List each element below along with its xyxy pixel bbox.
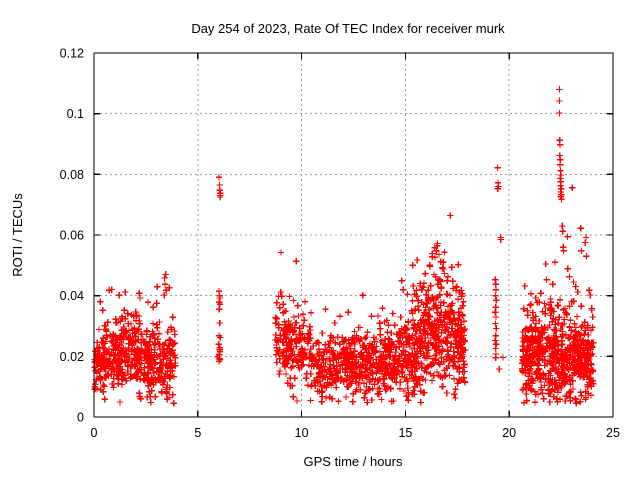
chart-svg: Day 254 of 2023, Rate Of TEC Index for r… <box>0 0 640 480</box>
y-tick-label: 0.1 <box>67 107 84 121</box>
x-tick-label: 10 <box>295 426 309 440</box>
y-tick-label: 0.06 <box>60 229 84 243</box>
y-tick-label: 0.08 <box>60 168 84 182</box>
chart-title: Day 254 of 2023, Rate Of TEC Index for r… <box>191 21 505 36</box>
x-tick-label: 15 <box>398 426 412 440</box>
y-tick-label: 0.02 <box>60 350 84 364</box>
x-axis-label: GPS time / hours <box>304 454 403 469</box>
y-axis-label: ROTI / TECUs <box>10 193 25 277</box>
x-tick-label: 5 <box>194 426 201 440</box>
chart-background <box>0 0 640 480</box>
x-tick-label: 0 <box>91 426 98 440</box>
y-tick-label: 0.04 <box>60 289 84 303</box>
roti-scatter-chart: Day 254 of 2023, Rate Of TEC Index for r… <box>0 0 640 480</box>
y-tick-label: 0 <box>77 411 84 425</box>
x-tick-label: 20 <box>502 426 516 440</box>
x-tick-label: 25 <box>606 426 620 440</box>
y-tick-label: 0.12 <box>60 47 84 61</box>
